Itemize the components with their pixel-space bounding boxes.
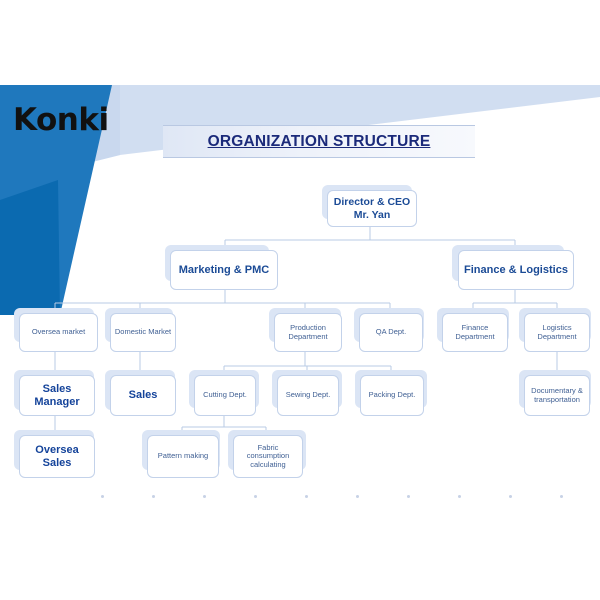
node-finance-department[interactable]: Finance Department (442, 313, 508, 352)
node-label: Sales Manager (20, 383, 94, 408)
footer-dot (305, 495, 308, 498)
node-pattern-making[interactable]: Pattern making (147, 435, 219, 478)
node-director-ceo[interactable]: Director & CEOMr. Yan (327, 190, 417, 227)
node-fabric-consumption-calculating[interactable]: Fabric consumption calculating (233, 435, 303, 478)
node-label: Sales (126, 389, 161, 402)
footer-dot (356, 495, 359, 498)
node-marketing-pmc[interactable]: Marketing & PMC (170, 250, 278, 290)
node-label: Pattern making (155, 452, 211, 461)
node-label: Cutting Dept. (200, 391, 250, 400)
node-production-department[interactable]: Production Department (274, 313, 342, 352)
company-logo: Konki (13, 102, 109, 138)
node-cutting-department[interactable]: Cutting Dept. (194, 375, 256, 416)
slide-canvas: Konki ORGANIZATION STRUCTURE (0, 85, 600, 503)
footer-dot (407, 495, 410, 498)
node-sales-manager[interactable]: Sales Manager (19, 375, 95, 416)
node-label: Logistics Department (525, 324, 589, 341)
node-logistics-department[interactable]: Logistics Department (524, 313, 590, 352)
node-label: Marketing & PMC (176, 264, 272, 277)
node-label: Packing Dept. (366, 391, 419, 400)
title-plate: ORGANIZATION STRUCTURE (163, 125, 475, 158)
footer-dot (254, 495, 257, 498)
footer-dot (509, 495, 512, 498)
node-domestic-market[interactable]: Domestic Market (110, 313, 176, 352)
node-label: Director & CEOMr. Yan (331, 196, 413, 220)
node-oversea-sales[interactable]: Oversea Sales (19, 435, 95, 478)
footer-dot (203, 495, 206, 498)
node-label: Domestic Market (112, 328, 174, 337)
footer-dot (101, 495, 104, 498)
node-label: Finance Department (443, 324, 507, 341)
node-label: Production Department (275, 324, 341, 341)
node-label: QA Dept. (373, 328, 409, 337)
footer-dot (458, 495, 461, 498)
node-label: Finance & Logistics (461, 264, 571, 277)
node-qa-department[interactable]: QA Dept. (359, 313, 423, 352)
footer-dot-rule (0, 495, 600, 501)
node-label: Sewing Dept. (283, 391, 334, 400)
node-oversea-market[interactable]: Oversea market (19, 313, 98, 352)
node-packing-department[interactable]: Packing Dept. (360, 375, 424, 416)
node-documentary-transportation[interactable]: Documentary & transportation (524, 375, 590, 416)
node-label: Fabric consumption calculating (234, 444, 302, 470)
footer-dot (560, 495, 563, 498)
node-sales[interactable]: Sales (110, 375, 176, 416)
node-label: Documentary & transportation (525, 387, 589, 404)
page-title: ORGANIZATION STRUCTURE (208, 133, 431, 151)
node-label: Oversea market (29, 328, 88, 337)
footer-dot (152, 495, 155, 498)
node-finance-logistics[interactable]: Finance & Logistics (458, 250, 574, 290)
node-label: Oversea Sales (20, 444, 94, 469)
node-sewing-department[interactable]: Sewing Dept. (277, 375, 339, 416)
